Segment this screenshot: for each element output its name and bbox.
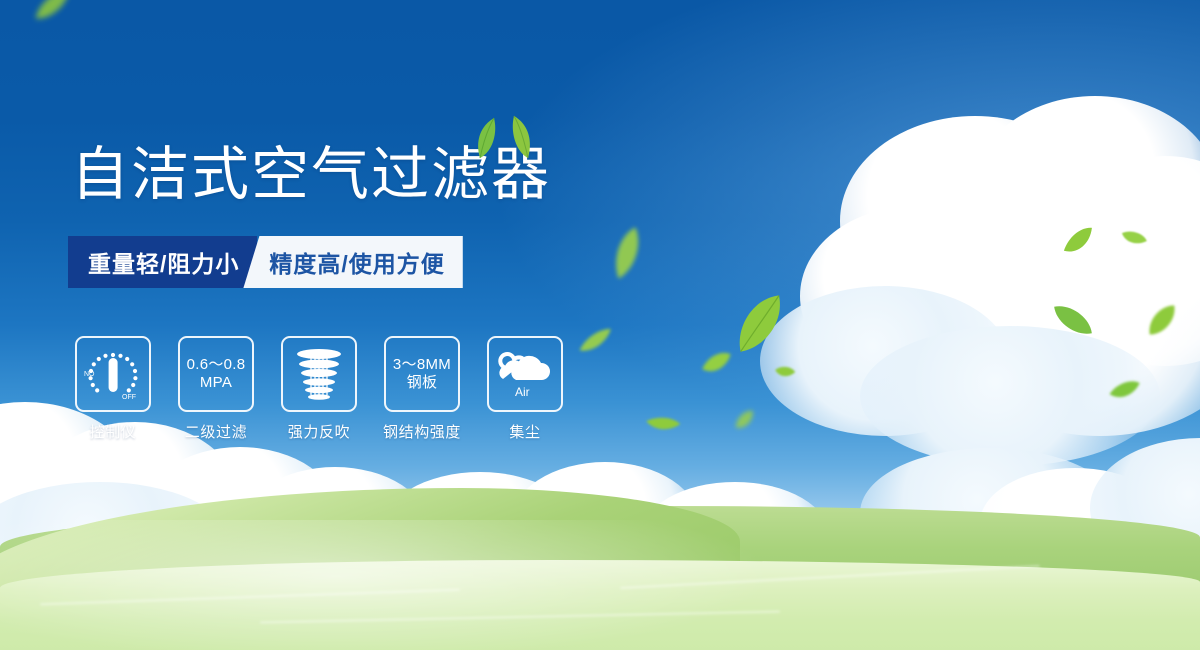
- dial-off-label: OFF: [122, 394, 136, 401]
- dial-on-label: NO: [84, 371, 95, 378]
- feature-label: 钢结构强度: [383, 421, 461, 442]
- control-dial-icon: NO OFF: [75, 336, 151, 412]
- steel-text-icon: 3～8MM 钢板: [384, 336, 460, 412]
- feature-label: 控制仪: [90, 421, 137, 442]
- air-label: Air: [515, 385, 530, 399]
- feature-label: 集尘: [509, 421, 540, 442]
- subtitle-bar: 重量轻/阻力小 精度高/使用方便: [68, 236, 465, 288]
- subtitle-right: 精度高/使用方便: [243, 236, 462, 288]
- pressure-text-icon: 0.6～0.8 MPA: [178, 336, 254, 412]
- feature-list: NO OFF 控制仪 0.6～0.8 MPA 二级过滤: [75, 336, 563, 442]
- sprout-leaf-right: [508, 114, 534, 162]
- feature-label: 二级过滤: [185, 421, 247, 442]
- product-banner: 自洁式空气过滤器 重量轻/阻力小 精度高/使用方便: [0, 0, 1200, 650]
- steel-line-1: 3～8MM: [393, 356, 451, 374]
- grass-front: [0, 560, 1200, 650]
- pressure-line-2: MPA: [200, 374, 232, 392]
- feature-item-steel[interactable]: 3～8MM 钢板 钢结构强度: [384, 336, 460, 442]
- cloud-right: [800, 96, 1200, 456]
- feature-item-control[interactable]: NO OFF 控制仪: [75, 336, 151, 442]
- feature-item-dust[interactable]: Air 集尘: [487, 336, 563, 442]
- sprout-leaf-left: [474, 116, 500, 162]
- subtitle-left: 重量轻/阻力小: [68, 236, 257, 288]
- pressure-line-1: 0.6～0.8: [187, 356, 246, 374]
- cloud-air-icon: Air: [487, 336, 563, 412]
- feature-item-blowback[interactable]: 强力反吹: [281, 336, 357, 442]
- steel-line-2: 钢板: [407, 374, 438, 392]
- feature-label: 强力反吹: [288, 421, 350, 442]
- stacked-filter-icon: [281, 336, 357, 412]
- feature-item-pressure[interactable]: 0.6～0.8 MPA 二级过滤: [178, 336, 254, 442]
